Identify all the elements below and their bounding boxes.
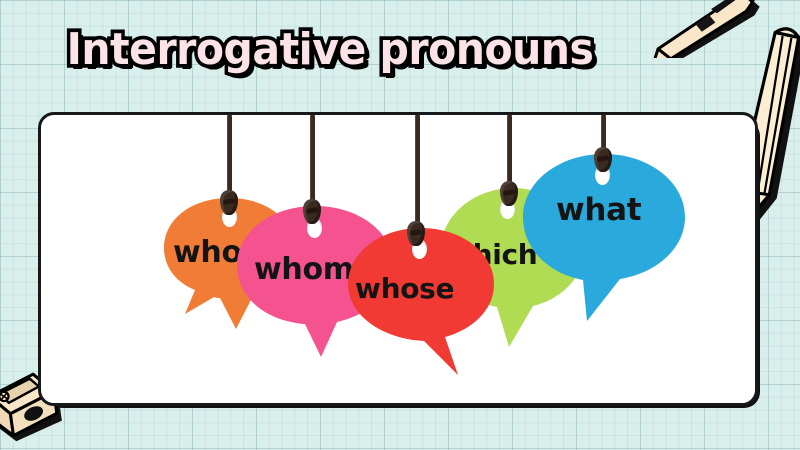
bubble-label-whose: whose <box>355 275 454 303</box>
bubble-knot-which <box>500 181 518 206</box>
slide-stage: Interrogative pronouns <box>0 0 800 450</box>
bubble-label-who: who <box>173 238 242 268</box>
bubble-label-whom: whom <box>254 255 354 285</box>
bubble-label-what: what <box>556 195 641 226</box>
speech-bubble-what[interactable]: what <box>521 153 687 285</box>
speech-bubble-whose[interactable]: whose <box>346 227 496 345</box>
bubble-knot-what <box>594 147 612 172</box>
bubble-string-whose <box>415 115 420 233</box>
content-card: who whom whose which <box>38 112 758 406</box>
bubble-string-whom <box>310 115 315 211</box>
bubble-knot-whose <box>407 221 425 246</box>
bubble-knot-whom <box>303 199 321 224</box>
